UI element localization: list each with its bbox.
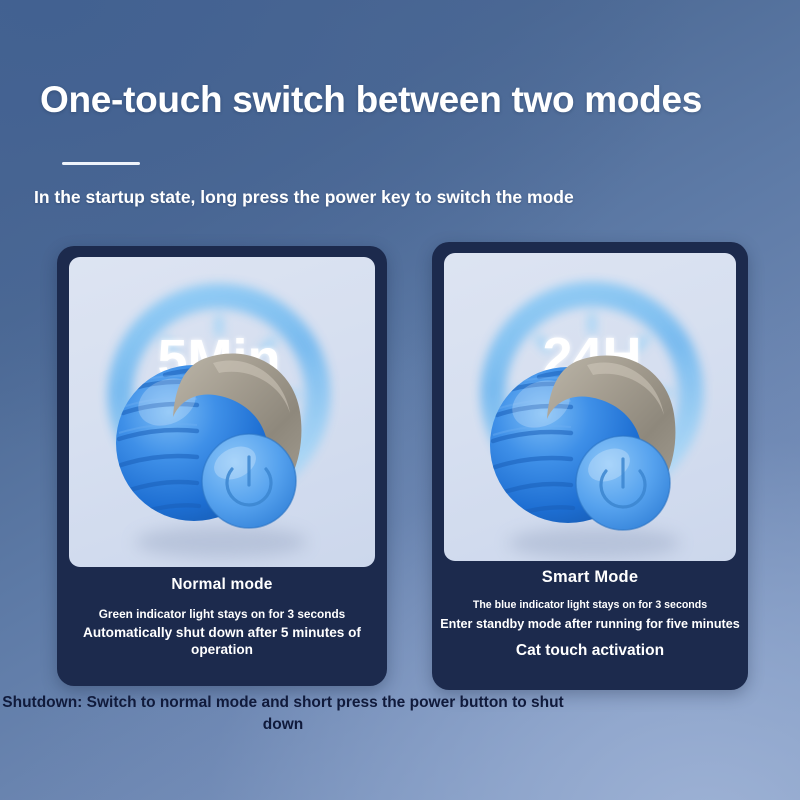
product-photo-smart: 24H 24H bbox=[444, 253, 736, 561]
mode-detail-smart-1: The blue indicator light stays on for 3 … bbox=[440, 599, 740, 612]
mode-detail-normal-1: Green indicator light stays on for 3 sec… bbox=[65, 607, 379, 622]
shutdown-note: Shutdown: Switch to normal mode and shor… bbox=[0, 692, 566, 736]
mode-title-smart: Smart Mode bbox=[440, 568, 740, 587]
mode-card-smart[interactable]: 24H 24H bbox=[432, 242, 748, 690]
caption-smart: Smart Mode The blue indicator light stay… bbox=[440, 568, 740, 661]
mode-card-normal[interactable]: 5Min 5Min bbox=[57, 246, 387, 686]
caption-normal: Normal mode Green indicator light stays … bbox=[65, 576, 379, 658]
mode-detail-smart-3: Cat touch activation bbox=[440, 641, 740, 661]
title-underline-accent bbox=[62, 162, 140, 165]
product-illustration-smart: 24H 24H bbox=[444, 253, 736, 561]
mode-detail-smart-2: Enter standby mode after running for fiv… bbox=[440, 617, 740, 633]
mode-comparison-poster: One-touch switch between two modes In th… bbox=[0, 0, 800, 800]
mode-title-normal: Normal mode bbox=[65, 576, 379, 594]
page-title: One-touch switch between two modes bbox=[40, 79, 702, 121]
page-subtitle: In the startup state, long press the pow… bbox=[34, 187, 574, 208]
product-photo-normal: 5Min 5Min bbox=[69, 257, 375, 567]
product-illustration-normal: 5Min 5Min bbox=[69, 257, 375, 567]
mode-detail-normal-2: Automatically shut down after 5 minutes … bbox=[65, 624, 379, 658]
